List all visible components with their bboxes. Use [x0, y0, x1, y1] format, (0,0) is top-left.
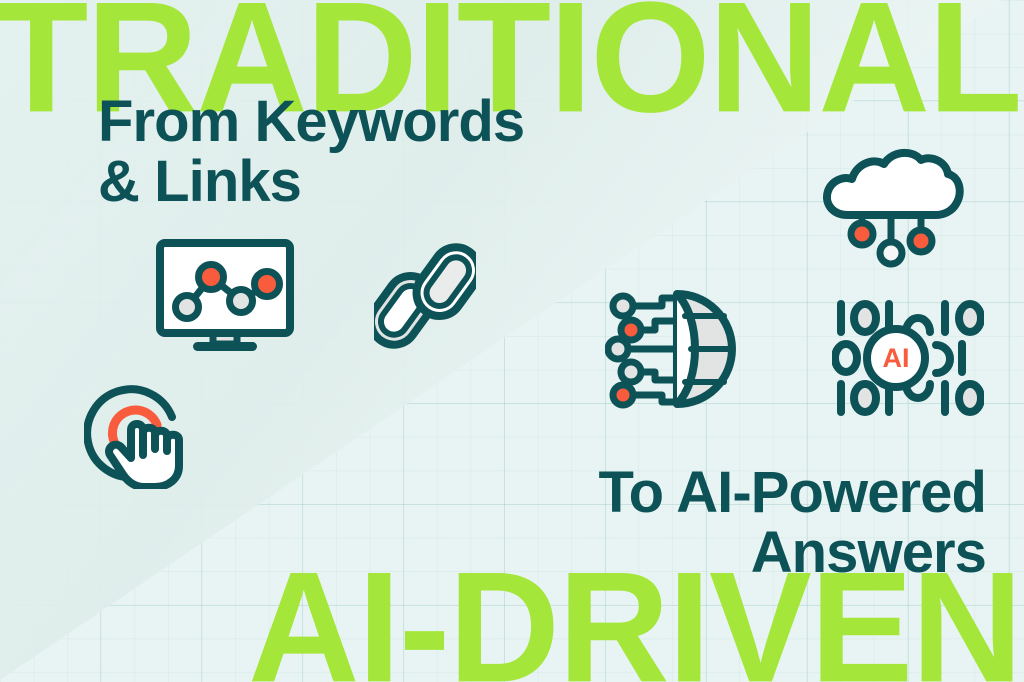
headline-ai: To AI-Powered Answers — [598, 463, 986, 582]
headline-traditional-line1: From Keywords — [98, 89, 524, 154]
infographic-canvas: TRADITIONAL SEO AI-DRIVEN SEO — [0, 0, 1024, 682]
headline-ai-line1: To AI-Powered — [598, 460, 986, 525]
headline-traditional: From Keywords & Links — [98, 92, 524, 211]
cloud-network-icon — [818, 143, 964, 275]
monitor-analytics-icon — [155, 238, 295, 358]
ai-binary-icon: AI — [832, 298, 984, 418]
ai-badge-label: AI — [883, 343, 910, 373]
chain-link-icon — [374, 232, 476, 360]
ai-globe-icon — [605, 288, 745, 410]
headline-ai-line2: Answers — [598, 523, 986, 583]
click-cursor-icon — [84, 377, 206, 489]
headline-traditional-line2: & Links — [98, 152, 524, 212]
